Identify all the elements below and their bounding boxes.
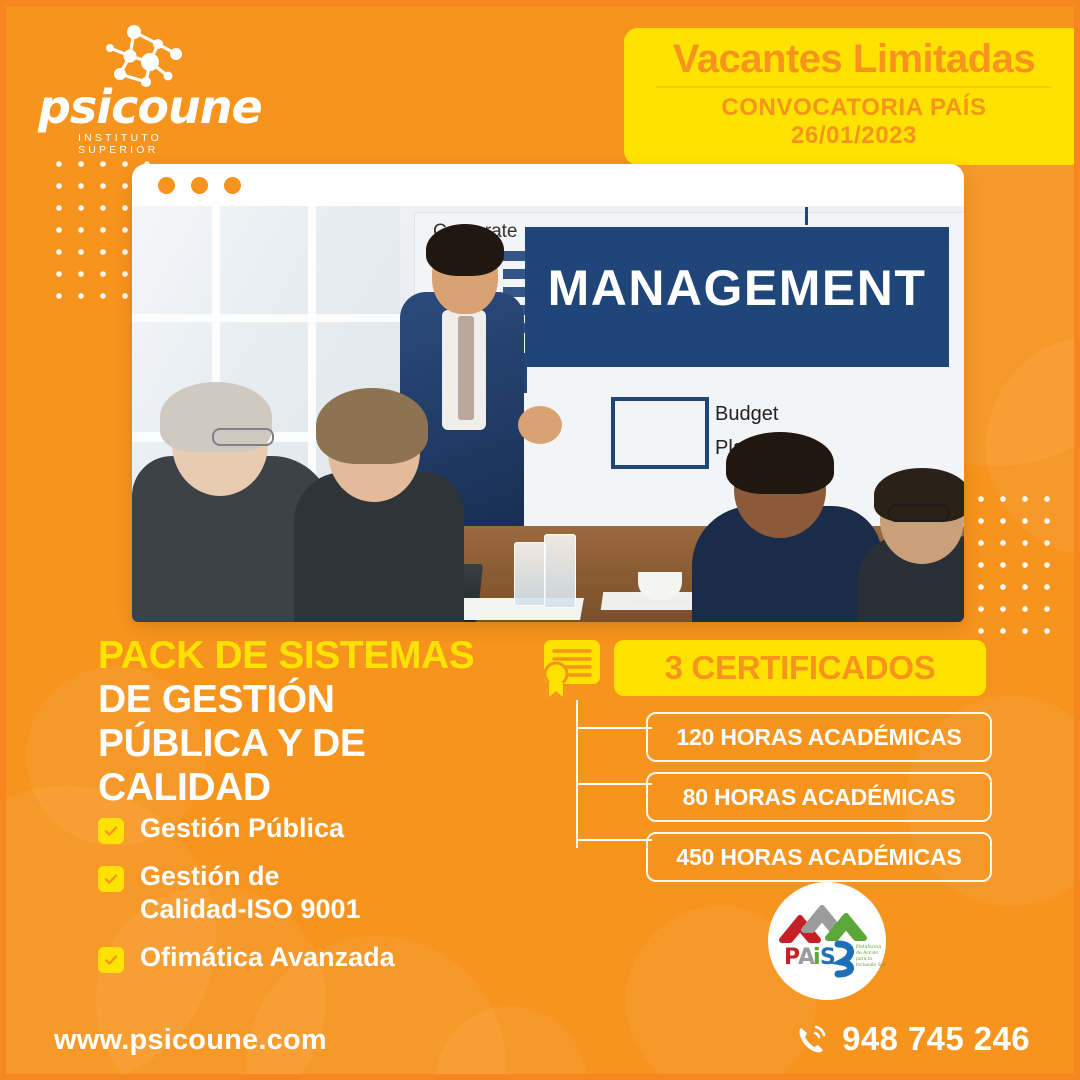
headline-line-3: PÚBLICA Y DE	[98, 723, 528, 765]
browser-title-bar	[132, 164, 964, 206]
headline-line-1: PACK DE SISTEMAS	[98, 636, 528, 677]
headline-line-2: DE GESTIÓN	[98, 679, 528, 721]
checklist-label: Gestión Pública	[140, 812, 344, 844]
course-checklist: Gestión Pública Gestión de Calidad-ISO 9…	[98, 812, 538, 990]
badge-title: Vacantes Limitadas	[646, 38, 1062, 80]
course-headline: PACK DE SISTEMAS DE GESTIÓN PÚBLICA Y DE…	[98, 636, 528, 809]
check-icon	[98, 818, 124, 844]
photo-attendee-mid-hair	[316, 388, 428, 464]
badge-date: 26/01/2023	[646, 122, 1062, 150]
poster-canvas: psicoune INSTITUTO SUPERIOR Vacantes Lim…	[0, 0, 1080, 1080]
window-maximize-dot-icon[interactable]	[224, 177, 241, 194]
checklist-label: Ofimática Avanzada	[140, 941, 395, 973]
brand-logo: psicoune INSTITUTO SUPERIOR	[34, 28, 234, 148]
dot-grid-right	[968, 486, 1060, 646]
photo-attendee-far-right-glasses	[888, 504, 950, 522]
badge-subtitle: CONVOCATORIA PAÍS	[646, 94, 1062, 122]
hours-pill: 80 HORAS ACADÉMICAS	[646, 772, 992, 822]
hours-list: 120 HORAS ACADÉMICAS 80 HORAS ACADÉMICAS…	[646, 712, 988, 892]
certificate-icon	[540, 638, 606, 700]
photo-cup	[638, 572, 682, 600]
website-url[interactable]: www.psicoune.com	[54, 1024, 327, 1057]
hours-label: 80 HORAS ACADÉMICAS	[683, 784, 956, 811]
list-item: Gestión Pública	[98, 812, 538, 844]
logo-wordmark: psicoune	[38, 84, 228, 130]
svg-text:Inclusión Social: Inclusión Social	[856, 961, 886, 968]
board-decor-tick	[805, 207, 808, 225]
hours-pill: 120 HORAS ACADÉMICAS	[646, 712, 992, 762]
certificates-title-pill: 3 CERTIFICADOS	[614, 640, 986, 696]
photo-presenter-tie	[458, 316, 474, 420]
hours-pill: 450 HORAS ACADÉMICAS	[646, 832, 992, 882]
board-title: MANAGEMENT	[525, 259, 949, 317]
svg-text:para la: para la	[856, 956, 872, 962]
checklist-label: Gestión de Calidad-ISO 9001	[140, 860, 361, 925]
photo-attendee-right-hair	[726, 432, 834, 494]
list-item: Ofimática Avanzada	[98, 941, 538, 973]
classroom-photo: Corporate MANAGEMENT Budget Planning	[132, 206, 964, 622]
phone-contact[interactable]: 948 745 246	[794, 1020, 1030, 1058]
check-icon	[98, 947, 124, 973]
limited-seats-badge: Vacantes Limitadas CONVOCATORIA PAÍS 26/…	[624, 28, 1080, 165]
browser-mockup: Corporate MANAGEMENT Budget Planning	[132, 164, 964, 622]
svg-text:S: S	[820, 945, 836, 970]
board-label-budget: Budget	[715, 403, 778, 426]
list-item: Gestión de Calidad-ISO 9001	[98, 860, 538, 925]
svg-text:de Acción: de Acción	[856, 949, 878, 956]
photo-attendee-left-glasses	[212, 428, 274, 446]
window-close-dot-icon[interactable]	[158, 177, 175, 194]
phone-number: 948 745 246	[842, 1020, 1030, 1058]
logo-subtitle: INSTITUTO SUPERIOR	[78, 132, 234, 156]
board-title-panel: MANAGEMENT	[525, 227, 949, 367]
badge-divider	[656, 86, 1052, 88]
photo-glass	[514, 542, 546, 606]
headline-line-4: CALIDAD	[98, 767, 528, 809]
hours-label: 120 HORAS ACADÉMICAS	[676, 724, 961, 751]
svg-text:Plataforma: Plataforma	[856, 944, 881, 950]
board-square-shape	[611, 397, 709, 469]
photo-presenter-hand	[518, 406, 562, 444]
window-minimize-dot-icon[interactable]	[191, 177, 208, 194]
partner-logo-pais: P A i S Plataforma de Acción para la Inc…	[768, 882, 886, 1000]
check-icon	[98, 866, 124, 892]
photo-presenter-hair	[426, 224, 504, 276]
phone-icon	[794, 1022, 828, 1056]
certificates-title: 3 CERTIFICADOS	[665, 649, 936, 687]
hours-label: 450 HORAS ACADÉMICAS	[676, 844, 961, 871]
photo-glass-2	[544, 534, 576, 608]
decorative-circle	[436, 1006, 586, 1080]
